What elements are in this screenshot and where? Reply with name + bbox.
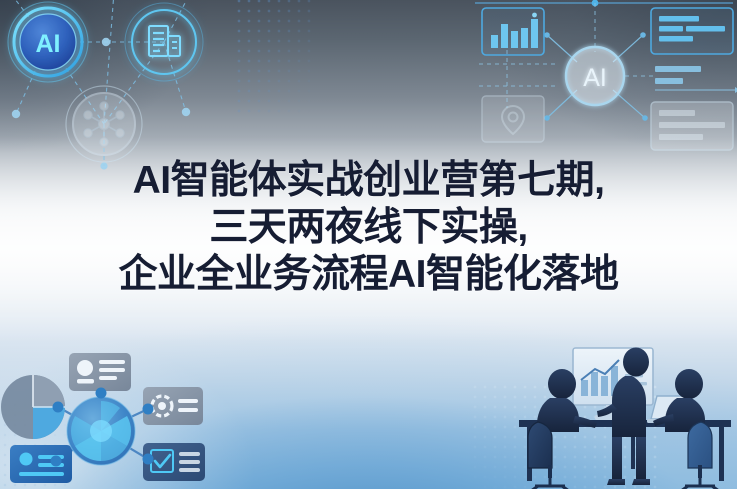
poster-title-block: AI智能体实战创业营第七期, 三天两夜线下实操, 企业全业务流程AI智能化落地: [0, 158, 737, 298]
dot-grid-pattern-top: [234, 0, 312, 114]
ai-hub-icon: AI: [566, 47, 624, 105]
network-node-icon: [66, 86, 142, 162]
bar-chart-dot: [532, 13, 537, 18]
bar-chart-card: [482, 8, 544, 55]
title-line-1: AI智能体实战创业营第七期,: [0, 158, 737, 205]
process-hub-icon: [67, 397, 135, 465]
text-bars-card: [655, 66, 737, 93]
bottom-right-office-illustration: [505, 336, 737, 489]
poster-root: AI: [0, 0, 737, 489]
svg-text:AI: AI: [583, 64, 607, 92]
svg-text:AI: AI: [36, 30, 61, 58]
text-list-card: [651, 8, 733, 54]
office-chair-left: [528, 422, 569, 489]
title-line-3: 企业全业务流程AI智能化落地: [0, 252, 737, 299]
title-line-2: 三天两夜线下实操,: [0, 205, 737, 252]
top-right-ai-hub-graphic: AI: [455, 0, 737, 175]
bottom-left-process-hub-graphic: [0, 335, 243, 489]
faded-list-card: [651, 102, 733, 150]
top-left-ai-network-graphic: AI: [0, 0, 236, 179]
profile-card-blue: [10, 445, 72, 483]
office-chair-right: [681, 422, 719, 489]
profile-card-top: [69, 353, 131, 391]
ai-badge-icon: AI: [8, 2, 88, 82]
location-pin-card: [482, 96, 544, 142]
